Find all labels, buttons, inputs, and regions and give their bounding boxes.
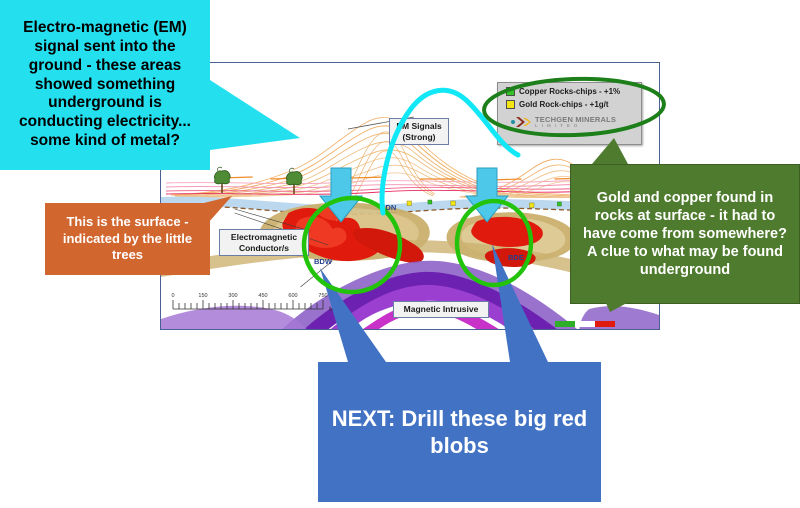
tree-icon-left	[209, 166, 235, 194]
electromagnetic-conductor-label: Electromagnetic Conductor/s	[219, 229, 309, 256]
scale-tick-150: 150	[198, 293, 207, 299]
magnetic-intrusive-label: Magnetic Intrusive	[393, 301, 489, 318]
techgen-chevron-logo-icon	[510, 115, 532, 129]
scale-tick-450: 450	[258, 293, 267, 299]
colour-strip	[555, 321, 615, 327]
callout-em-signal: Electro-magnetic (EM) signal sent into t…	[0, 0, 210, 170]
callout-next-drill-text: NEXT: Drill these big red blobs	[326, 405, 593, 460]
prospect-tag-bdn: BDN	[380, 203, 396, 212]
legend-item-gold: Gold Rock-chips - +1g/t	[506, 100, 641, 109]
scale-tick-300: 300	[228, 293, 237, 299]
prospect-tag-bdw: BDW	[314, 257, 332, 266]
callout-surface-text: This is the surface - indicated by the l…	[51, 214, 204, 265]
map-legend: Copper Rocks-chips - +1% Gold Rock-chips…	[497, 82, 642, 145]
techgen-logo: TECHGEN MINERALS L I M I T E D	[510, 115, 641, 129]
techgen-logo-text: TECHGEN MINERALS L I M I T E D	[535, 116, 616, 128]
scale-tick-0: 0	[171, 293, 174, 299]
scale-unit-label: Metres	[329, 307, 347, 313]
legend-label-gold: Gold Rock-chips - +1g/t	[519, 100, 609, 109]
em-signals-label: EM Signals (Strong)	[389, 118, 449, 145]
legend-item-copper: Copper Rocks-chips - +1%	[506, 87, 641, 96]
callout-em-signal-text: Electro-magnetic (EM) signal sent into t…	[8, 19, 202, 151]
callout-surface: This is the surface - indicated by the l…	[45, 203, 210, 275]
slide-canvas: EM Signals (Strong) Electromagnetic Cond…	[0, 0, 800, 508]
scale-bar: 0 150 300 450 600 750 Metres	[169, 289, 369, 321]
gold-swatch-icon	[506, 100, 515, 109]
techgen-logo-subtitle: L I M I T E D	[535, 124, 616, 129]
scale-tick-600: 600	[288, 293, 297, 299]
copper-swatch-icon	[506, 87, 515, 96]
callout-next-drill: NEXT: Drill these big red blobs	[318, 362, 601, 502]
prospect-tag-bde: BDE	[508, 253, 524, 262]
callout-gold-copper-text: Gold and copper found in rocks at surfac…	[579, 189, 791, 280]
callout-gold-copper: Gold and copper found in rocks at surfac…	[570, 164, 800, 304]
legend-label-copper: Copper Rocks-chips - +1%	[519, 87, 620, 96]
scale-tick-750: 750	[318, 293, 327, 299]
